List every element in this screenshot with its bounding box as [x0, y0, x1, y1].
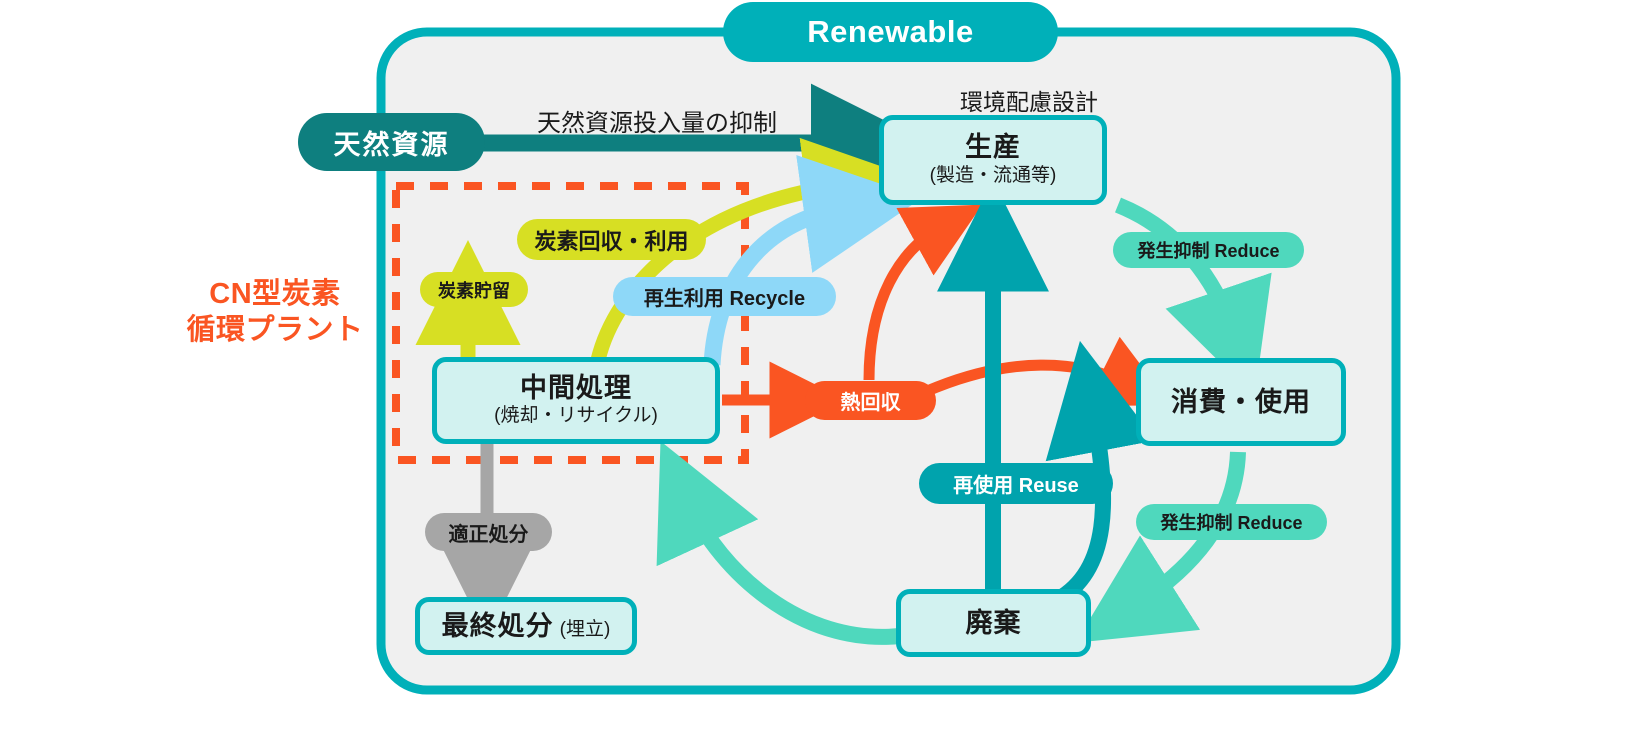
- cn-plant-line-2: 循環プラント: [180, 312, 370, 348]
- cn-plant-line-1: CN型炭素: [180, 276, 370, 312]
- production-title: 生産: [965, 132, 1021, 162]
- label-recycle: 再生利用 Recycle: [613, 277, 836, 316]
- label-heat-recovery: 熱回収: [805, 381, 936, 420]
- diagram-graphics-layer: [0, 0, 1640, 734]
- natural-resources-label: 天然資源: [334, 123, 450, 162]
- renewable-title-text: Renewable: [807, 14, 973, 50]
- node-production: 生産 (製造・流通等): [879, 115, 1107, 205]
- label-reduce-top: 発生抑制 Reduce: [1113, 232, 1304, 268]
- intermediate-title: 中間処理: [520, 373, 632, 403]
- proper-disposal-text: 適正処分: [449, 518, 529, 547]
- reuse-text: 再使用 Reuse: [953, 469, 1079, 498]
- node-intermediate-treatment: 中間処理 (焼却・リサイクル): [432, 357, 720, 444]
- node-consumption: 消費・使用: [1136, 358, 1346, 446]
- final-disposal-row: 最終処分 (埋立): [442, 611, 611, 642]
- carbon-storage-text: 炭素貯留: [438, 277, 510, 303]
- node-natural-resources: 天然資源: [298, 113, 485, 171]
- carbon-capture-use-text: 炭素回収・利用: [534, 224, 688, 256]
- label-eco-design: 環境配慮設計: [960, 83, 1098, 117]
- label-carbon-storage: 炭素貯留: [420, 272, 528, 307]
- heat-recovery-text: 熱回収: [841, 386, 901, 415]
- production-subtitle: (製造・流通等): [930, 165, 1057, 188]
- reduce-top-text: 発生抑制 Reduce: [1137, 237, 1279, 263]
- label-cn-carbon-cycle-plant: CN型炭素 循環プラント: [180, 276, 370, 349]
- renewable-title-pill: Renewable: [723, 2, 1058, 62]
- reduce-bottom-text: 発生抑制 Reduce: [1160, 509, 1302, 535]
- final-disposal-title: 最終処分: [442, 611, 554, 641]
- disposal-title: 廃棄: [966, 608, 1022, 638]
- consumption-title: 消費・使用: [1171, 387, 1311, 417]
- final-disposal-subtitle: (埋立): [560, 619, 611, 642]
- label-input-suppression: 天然資源投入量の抑制: [537, 103, 777, 138]
- node-final-disposal: 最終処分 (埋立): [415, 597, 637, 655]
- intermediate-subtitle: (焼却・リサイクル): [494, 405, 658, 428]
- diagram-canvas: Renewable 天然資源 天然資源投入量の抑制 環境配慮設計 CN型炭素 循…: [0, 0, 1640, 734]
- label-carbon-capture-use: 炭素回収・利用: [517, 219, 706, 260]
- recycle-text: 再生利用 Recycle: [644, 282, 805, 311]
- label-reuse: 再使用 Reuse: [919, 463, 1113, 504]
- label-proper-disposal: 適正処分: [425, 513, 552, 551]
- label-reduce-bottom: 発生抑制 Reduce: [1136, 504, 1327, 540]
- node-disposal: 廃棄: [896, 589, 1091, 657]
